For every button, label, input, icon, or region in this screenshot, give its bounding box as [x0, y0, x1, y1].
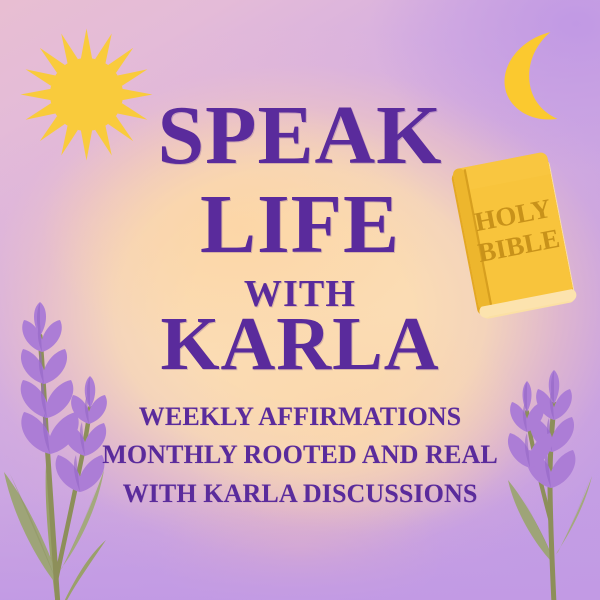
- subtitle-block: WEEKLY AFFIRMATIONS MONTHLY ROOTED AND R…: [0, 398, 600, 513]
- page-title-line-3: KARLA: [0, 310, 600, 380]
- page-title-line-2: LIFE: [0, 186, 600, 263]
- subtitle-line: WITH KARLA DISCUSSIONS: [0, 475, 600, 513]
- podcast-cover-art: HOLY BIBLE: [0, 0, 600, 600]
- page-title-line-1: SPEAK: [0, 97, 600, 174]
- subtitle-line: WEEKLY AFFIRMATIONS: [0, 398, 600, 436]
- subtitle-line: MONTHLY ROOTED AND REAL: [0, 436, 600, 474]
